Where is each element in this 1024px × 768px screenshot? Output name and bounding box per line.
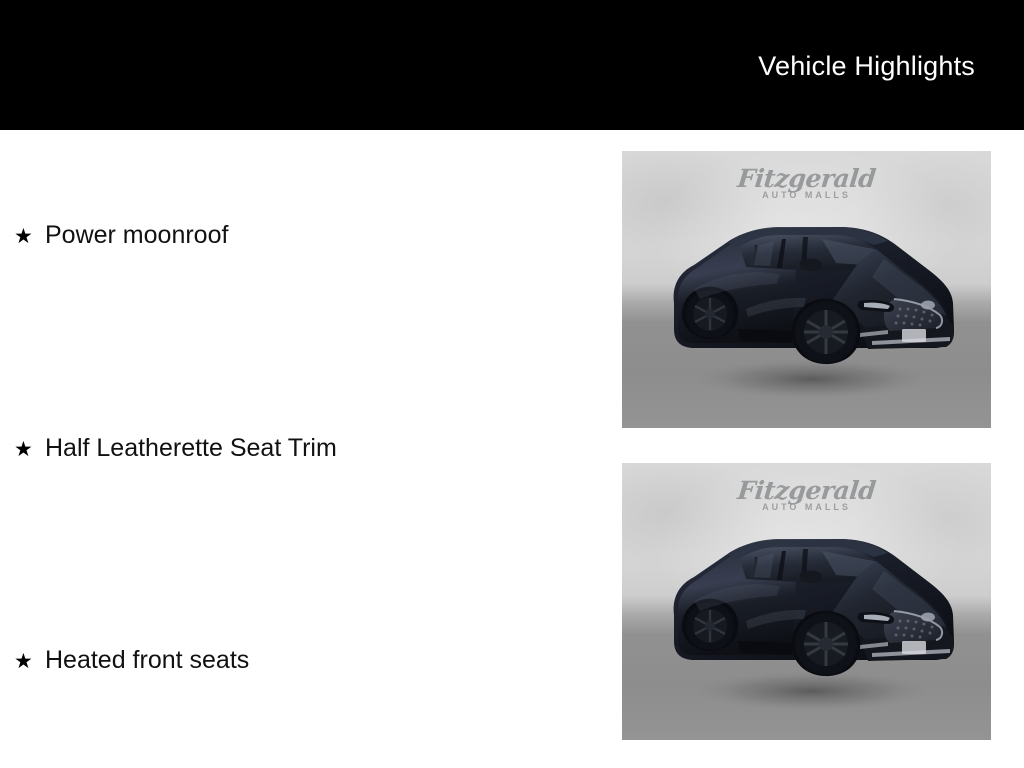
- vehicle-photo-bottom[interactable]: Fitzgerald AUTO MALLS: [622, 463, 991, 740]
- list-item: ★ Heated front seats: [14, 645, 249, 677]
- vehicle-highlights-list: ★ Power moonroof ★ Half Leatherette Seat…: [0, 130, 600, 768]
- highlight-label: Heated front seats: [45, 645, 249, 675]
- star-icon: ★: [14, 222, 45, 252]
- highlight-label: Power moonroof: [45, 220, 228, 250]
- star-icon: ★: [14, 435, 45, 465]
- list-item: ★ Half Leatherette Seat Trim: [14, 433, 337, 465]
- vehicle-illustration: [622, 151, 991, 428]
- highlight-label: Half Leatherette Seat Trim: [45, 433, 337, 463]
- list-item: ★ Power moonroof: [14, 220, 228, 252]
- header-banner: Vehicle Highlights: [0, 0, 1024, 130]
- vehicle-photo-top[interactable]: Fitzgerald AUTO MALLS: [622, 151, 991, 428]
- vehicle-illustration: [622, 463, 991, 740]
- vehicle-highlights-page: Vehicle Highlights ★ Power moonroof ★ Ha…: [0, 0, 1024, 768]
- star-icon: ★: [14, 647, 45, 677]
- page-title: Vehicle Highlights: [758, 50, 975, 82]
